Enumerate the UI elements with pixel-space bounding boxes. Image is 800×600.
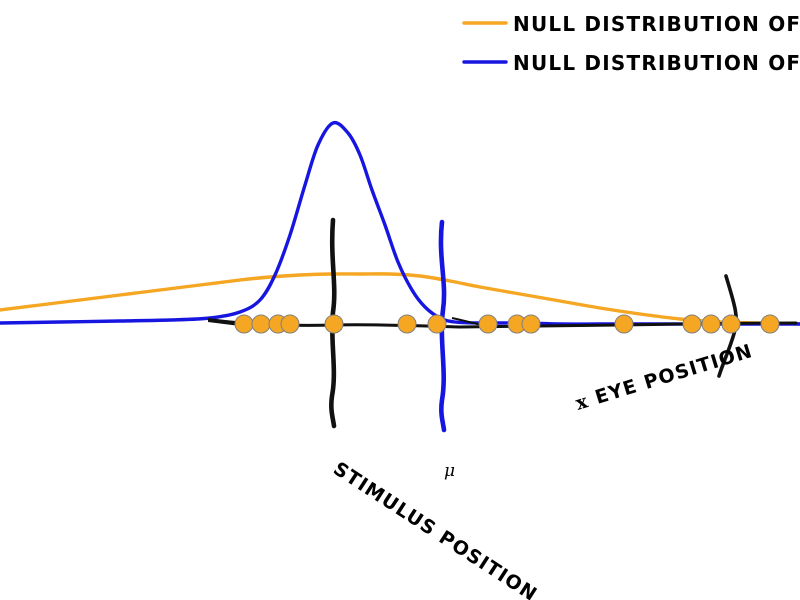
svg-text:xEYE POSITION: xEYE POSITION: [573, 340, 755, 415]
axis-labels: xEYE POSITION STIMULUS POSITION μ: [0, 0, 800, 600]
stimulus-position-label-text: STIMULUS POSITION: [329, 458, 541, 600]
x-axis-label: xEYE POSITION: [573, 340, 755, 415]
x-axis-label-symbol: x: [573, 390, 591, 415]
stimulus-position-label: STIMULUS POSITION: [329, 458, 541, 600]
x-axis-label-rest: EYE POSITION: [592, 340, 755, 409]
figure-canvas: NULL DISTRIBUTION OFx NULL DISTRIBUTION …: [0, 0, 800, 600]
mu-label: μ: [444, 461, 455, 481]
